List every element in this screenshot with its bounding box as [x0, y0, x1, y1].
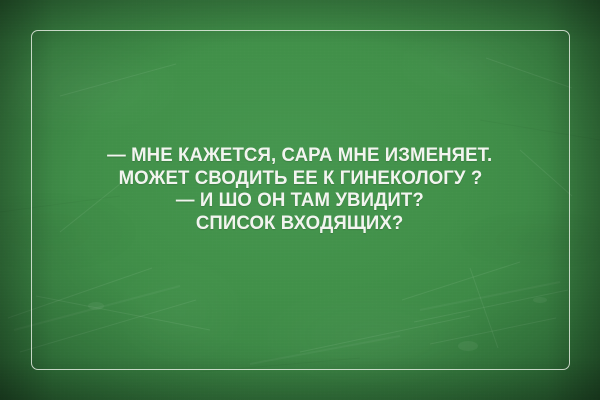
chalkboard-card: — МНЕ КАЖЕТСЯ, САРА МНЕ ИЗМЕНЯЕТ. МОЖЕТ …	[0, 0, 600, 400]
quote-line-1: — МНЕ КАЖЕТСЯ, САРА МНЕ ИЗМЕНЯЕТ.	[0, 144, 600, 167]
quote-line-4: СПИСОК ВХОДЯЩИХ?	[0, 212, 600, 235]
quote-line-2: МОЖЕТ СВОДИТЬ ЕЕ К ГИНЕКОЛОГУ ?	[0, 167, 600, 190]
quote-line-3: — И ШО ОН ТАМ УВИДИТ?	[0, 189, 600, 212]
quote-text-block: — МНЕ КАЖЕТСЯ, САРА МНЕ ИЗМЕНЯЕТ. МОЖЕТ …	[0, 144, 600, 234]
